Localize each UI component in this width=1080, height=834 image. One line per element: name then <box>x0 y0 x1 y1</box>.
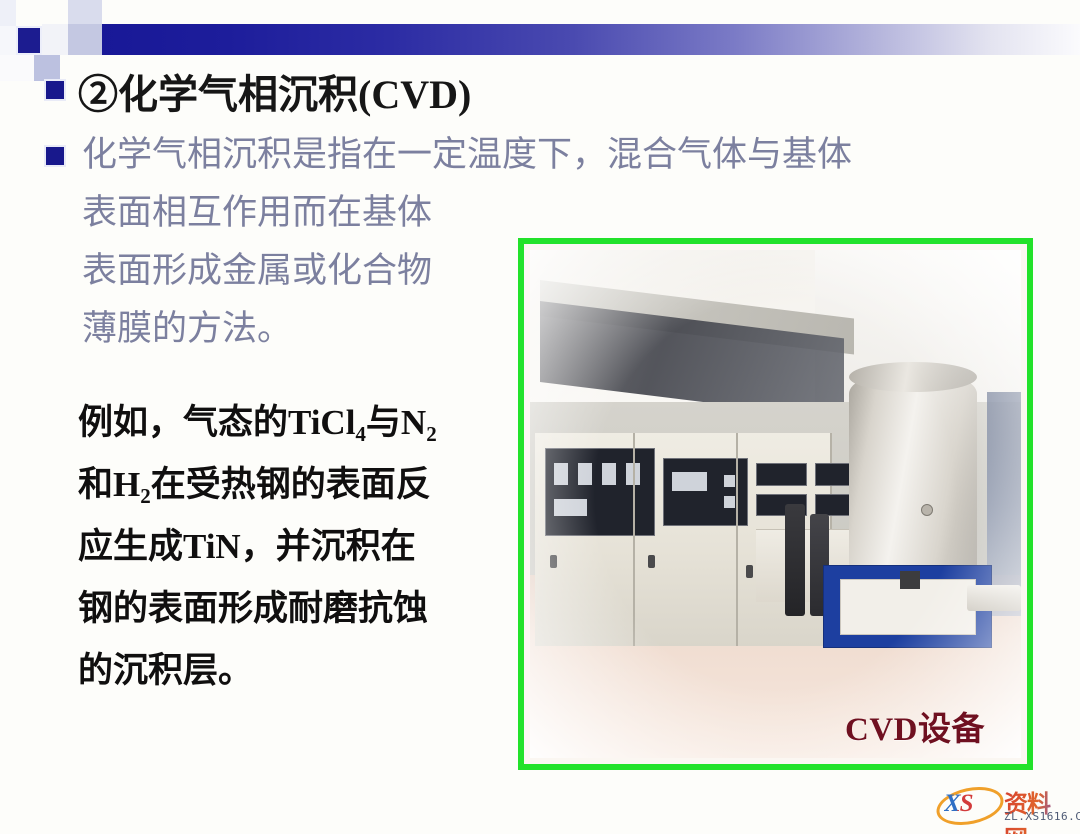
photo-door-seam-1 <box>633 433 635 646</box>
deco-square-accent <box>16 26 42 55</box>
deco-square-mid <box>68 24 102 55</box>
slide-canvas: ②化学气相沉积(CVD) 化学气相沉积是指在一定温度下，混合气体与基体 表面相互… <box>0 0 1080 834</box>
example-line-3: 应生成TiN，并沉积在 <box>78 516 488 578</box>
photo-pipe <box>967 585 1021 610</box>
bullet-intro <box>44 145 66 167</box>
example-line-4: 钢的表面形成耐磨抗蚀 <box>78 578 488 640</box>
deco-square-topleft-light <box>0 0 16 26</box>
header-gradient-band <box>66 24 1080 55</box>
photo-switch-row-1 <box>756 463 807 485</box>
watermark-brand-text: 资料网 <box>1004 784 1072 834</box>
deco-square-bottomleft <box>0 55 34 81</box>
example-line-1: 例如，气态的TiCl₄与N₂ <box>78 392 488 454</box>
page-title: ②化学气相沉积(CVD) <box>78 62 471 120</box>
photo-base-latch <box>900 571 920 589</box>
watermark-url-text: ZL.XS1616.COM <box>1004 810 1080 823</box>
photo-chamber-viewport <box>921 504 933 516</box>
deco-square-bottom <box>34 55 60 81</box>
cvd-equipment-photo <box>530 250 1021 758</box>
example-line-5: 的沉积层。 <box>78 640 488 702</box>
photo-control-panel-1 <box>545 448 655 536</box>
site-watermark: XS 资料网 ZL.XS1616.COM <box>934 782 1072 828</box>
photo-gas-cylinder-1 <box>785 504 805 616</box>
example-line-2: 和H₂在受热钢的表面反 <box>78 454 488 516</box>
photo-control-panel-2 <box>663 458 748 526</box>
photo-caption: CVD设备 <box>845 702 985 750</box>
deco-square-mid2 <box>42 24 68 55</box>
photo-door-knob-2 <box>648 555 655 568</box>
photo-door-knob-3 <box>746 565 753 578</box>
bullet-title <box>44 79 66 101</box>
cvd-equipment-photo-frame: CVD设备 <box>518 238 1033 770</box>
intro-line-2: 表面相互作用而在基体 <box>82 184 952 242</box>
photo-door-knob-1 <box>550 555 557 568</box>
example-paragraph: 例如，气态的TiCl₄与N₂ 和H₂在受热钢的表面反 应生成TiN，并沉积在 钢… <box>78 392 488 702</box>
photo-door-seam-2 <box>736 433 738 646</box>
photo-chamber-lid <box>849 362 977 392</box>
watermark-logo-text: XS <box>944 790 973 818</box>
photo-right-wall-column <box>987 392 1021 616</box>
intro-line-1: 化学气相沉积是指在一定温度下，混合气体与基体 <box>82 135 852 174</box>
deco-square-top <box>68 0 102 24</box>
